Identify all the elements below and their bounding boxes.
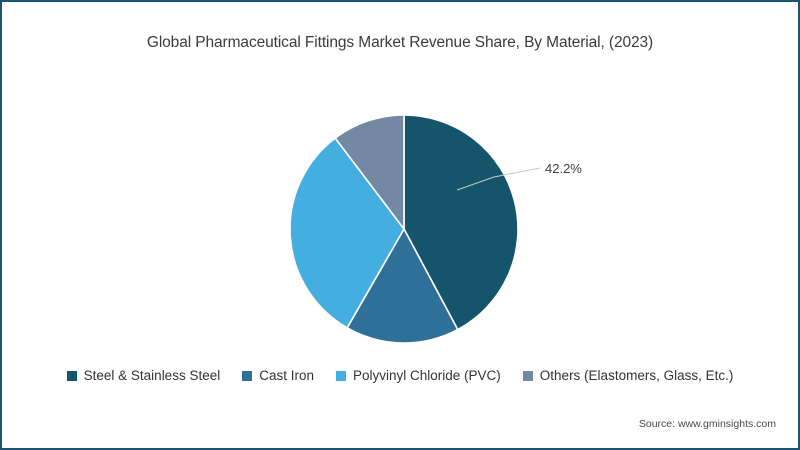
pie-slices [290,115,518,343]
data-label-42-2-percent: 42.2% [545,161,582,176]
legend-item-label: Cast Iron [259,368,314,383]
legend-item[interactable]: Others (Elastomers, Glass, Etc.) [523,368,734,383]
legend-swatch-icon [242,371,252,381]
legend-item-label: Steel & Stainless Steel [84,368,221,383]
legend-swatch-icon [67,371,77,381]
legend: Steel & Stainless SteelCast IronPolyviny… [2,368,798,383]
pie-chart: 42.2% [2,2,800,362]
legend-item[interactable]: Cast Iron [242,368,314,383]
legend-item-label: Others (Elastomers, Glass, Etc.) [540,368,734,383]
legend-item-label: Polyvinyl Chloride (PVC) [353,368,501,383]
legend-item[interactable]: Steel & Stainless Steel [67,368,221,383]
legend-swatch-icon [523,371,533,381]
source-note: Source: www.gminsights.com [639,418,776,430]
legend-swatch-icon [336,371,346,381]
chart-card: Global Pharmaceutical Fittings Market Re… [0,0,800,450]
legend-item[interactable]: Polyvinyl Chloride (PVC) [336,368,501,383]
pie-svg [2,2,800,362]
